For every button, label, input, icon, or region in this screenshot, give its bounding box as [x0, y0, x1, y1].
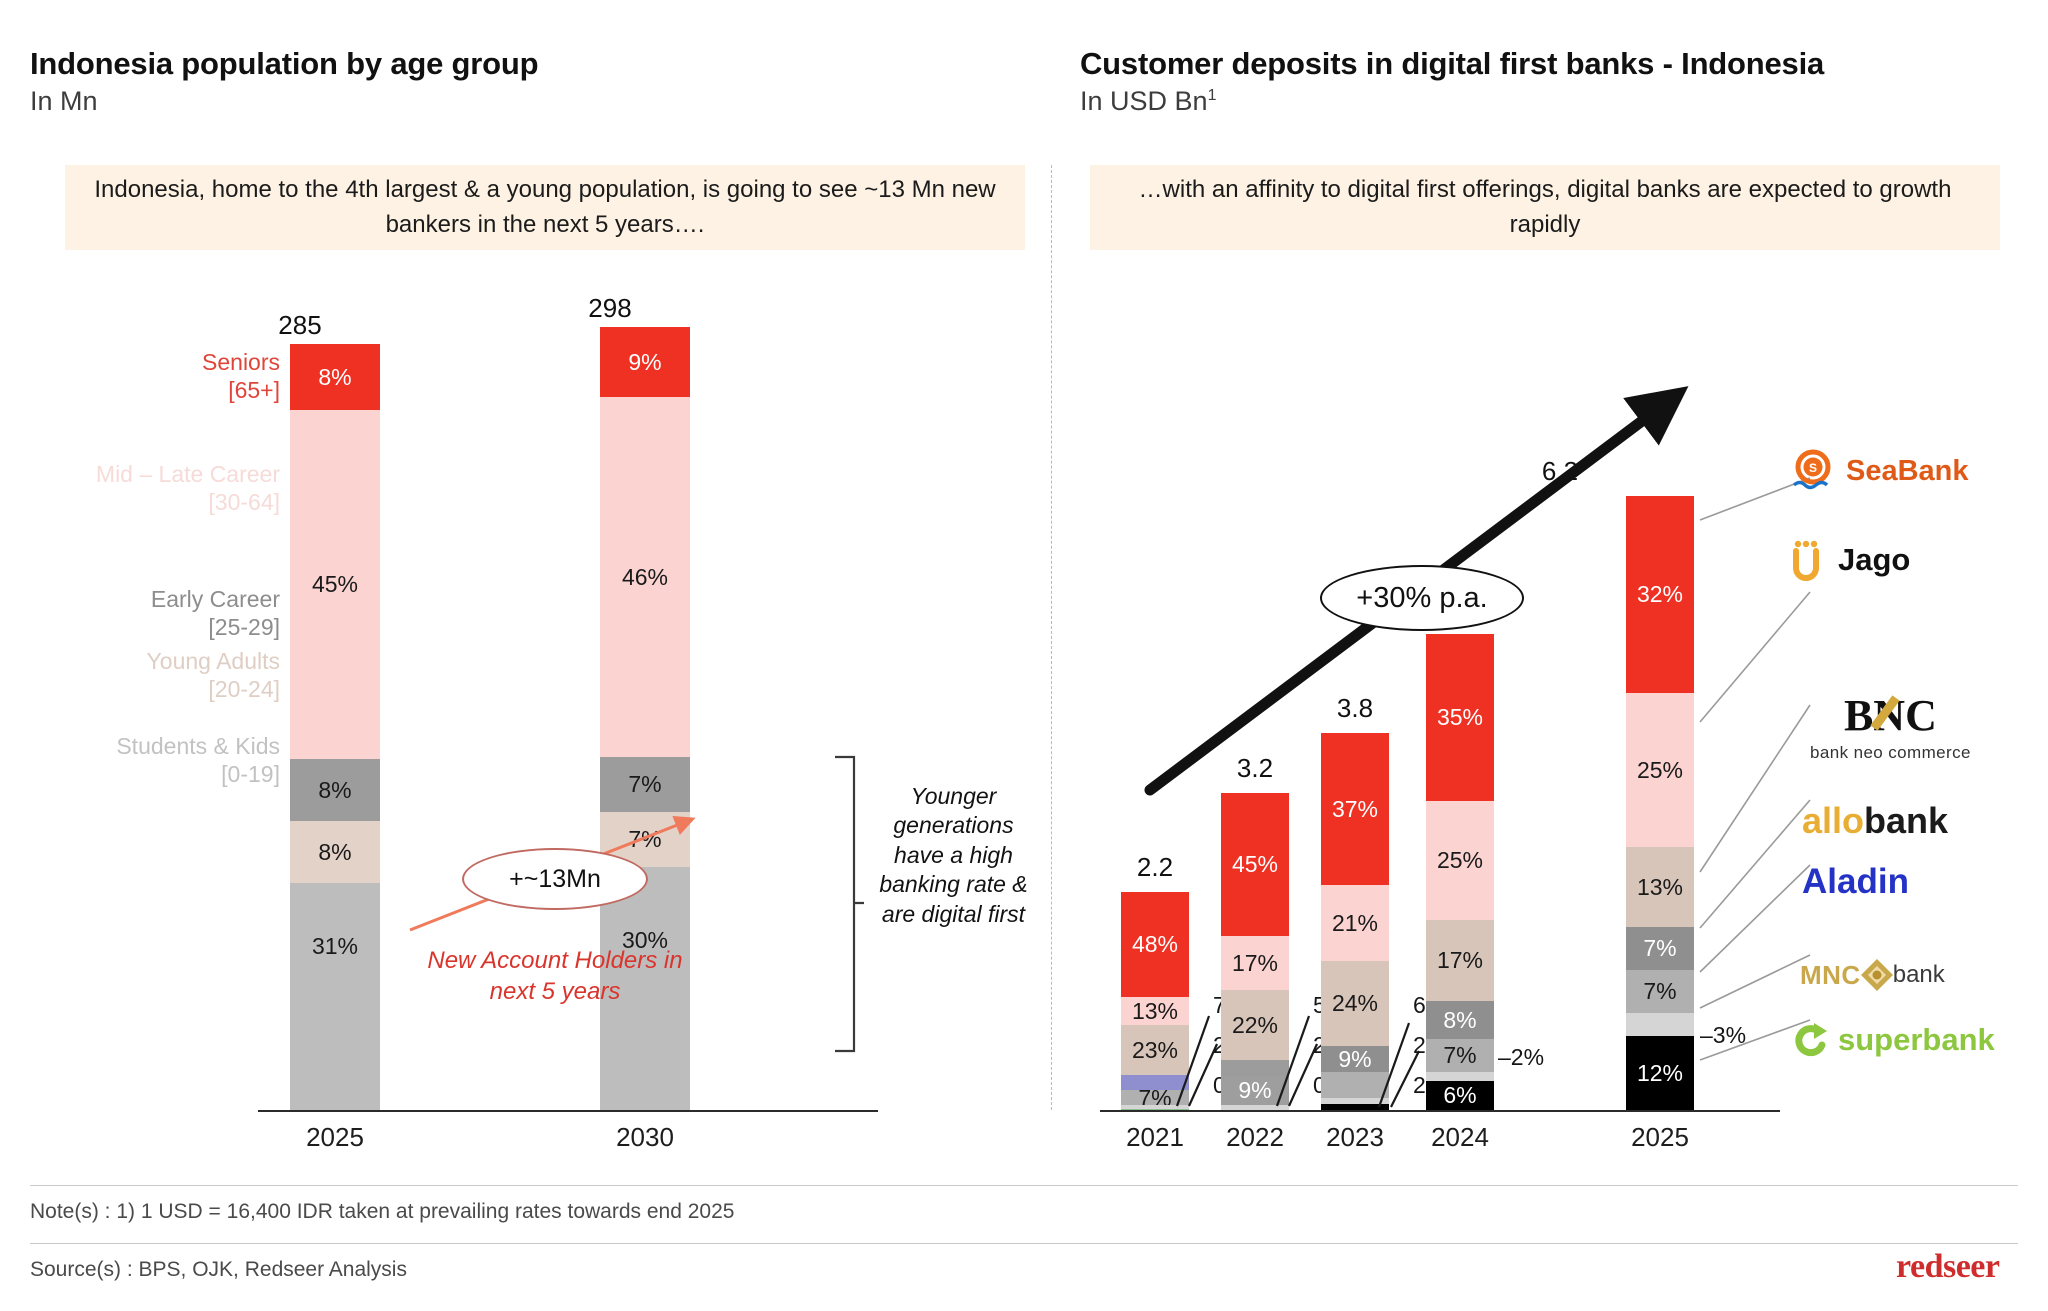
bar-2024-deposits: 35% 25% 17% 8% 7% 6%: [1426, 634, 1494, 1110]
bar-total-2021-deposits: 2.2: [1095, 852, 1215, 883]
new-account-holders-note: New Account Holders in next 5 years: [425, 945, 685, 1007]
xlab-2025-deposits: 2025: [1600, 1122, 1720, 1153]
segment-jago-2025: 25%: [1626, 693, 1694, 847]
segment-allobank-2025: 7%: [1626, 927, 1694, 970]
bar-2025-population: 8% 45% 8% 8% 31%: [290, 344, 380, 1110]
left-panel-title: Indonesia population by age group: [30, 46, 538, 82]
logo-label-bank: bank: [1864, 800, 1948, 842]
category-label-seniors: Seniors [65+]: [20, 348, 280, 404]
segment-mid-late-career-2025: 45%: [290, 410, 380, 759]
footer-sources: Source(s) : BPS, OJK, Redseer Analysis: [30, 1258, 407, 1282]
logo-label-allo: allo: [1802, 800, 1864, 842]
outlabel-mnc-2024: –2%: [1498, 1044, 1544, 1071]
logo-allobank: allobank: [1802, 800, 1948, 842]
right-panel-subtitle: In USD Bn1: [1080, 86, 1216, 117]
category-label-students-kids: Students & Kids [0-19]: [20, 732, 280, 788]
bnc-icon: BNC: [1844, 690, 1937, 741]
right-panel-title: Customer deposits in digital first banks…: [1080, 46, 1824, 82]
cat-range-young-adults: [20-24]: [20, 675, 280, 703]
seabank-icon: S: [1790, 448, 1836, 494]
younger-generations-bracket-icon: [832, 755, 866, 1055]
bar-total-2023-deposits: 3.8: [1295, 693, 1415, 724]
logo-label-superbank: superbank: [1838, 1022, 1995, 1058]
segment-jago-2024: 25%: [1426, 801, 1494, 920]
footer-notes: Note(s) : 1) 1 USD = 16,400 IDR taken at…: [30, 1200, 734, 1224]
segment-bnc-2024: 17%: [1426, 920, 1494, 1001]
segment-seabank-2023: 37%: [1321, 733, 1389, 885]
category-label-mid-late-career: Mid – Late Career [30-64]: [20, 460, 280, 516]
segment-jago-2023: 21%: [1321, 885, 1389, 961]
logo-mnc-bank: MNC bank: [1800, 955, 1945, 995]
left-callout-box: Indonesia, home to the 4th largest & a y…: [65, 165, 1025, 250]
segment-mnc-2025: [1626, 1013, 1694, 1036]
panel-divider: [1051, 165, 1052, 1110]
category-label-young-adults: Young Adults [20-24]: [20, 647, 280, 703]
mnc-diamond-icon: [1857, 955, 1897, 995]
logo-label-aladin: Aladin: [1802, 862, 1909, 902]
logo-jago: Jago: [1790, 538, 1910, 582]
xlab-2024-deposits: 2024: [1400, 1122, 1520, 1153]
slide-root: Indonesia population by age group In Mn …: [0, 0, 2048, 1311]
segment-allobank-2024: 8%: [1426, 1001, 1494, 1039]
xlab-2023-deposits: 2023: [1295, 1122, 1415, 1153]
segment-mnc-2024: [1426, 1072, 1494, 1081]
segment-young-adults-2025: 8%: [290, 821, 380, 883]
segment-superbank-2024: 6%: [1426, 1081, 1494, 1110]
cat-name-students-kids: Students & Kids: [20, 732, 280, 760]
segment-early-career-2025: 8%: [290, 759, 380, 821]
logo-bank-neo-commerce: BNC bank neo commerce: [1810, 690, 1971, 763]
logo-aladin: Aladin: [1802, 862, 1909, 902]
bar-2025-deposits: 32% 25% 13% 7% 7% 12%: [1626, 496, 1694, 1110]
growth-rate-bubble: +30% p.a.: [1320, 565, 1524, 631]
left-panel-subtitle: In Mn: [30, 86, 98, 117]
bar-total-2025-deposits: 6.2: [1500, 456, 1620, 487]
segment-seabank-2022: 45%: [1221, 793, 1289, 936]
jago-icon: [1790, 538, 1824, 582]
segment-early-career-2030: 7%: [600, 757, 690, 812]
category-label-early-career: Early Career [25-29]: [20, 585, 280, 641]
segment-superbank-2025: 12%: [1626, 1036, 1694, 1110]
left-callout-text: Indonesia, home to the 4th largest & a y…: [81, 173, 1009, 241]
logo-superbank: superbank: [1790, 1020, 1995, 1060]
segment-seabank-2024: 35%: [1426, 634, 1494, 801]
cat-name-seniors: Seniors: [20, 348, 280, 376]
bar-total-2030-population: 298: [550, 293, 670, 324]
svg-text:S: S: [1809, 461, 1817, 475]
cat-range-early-career: [25-29]: [20, 613, 280, 641]
segment-aladin-2025: 7%: [1626, 970, 1694, 1013]
bar-total-2025-population: 285: [240, 310, 360, 341]
logo-label-bnc: bank neo commerce: [1810, 743, 1971, 763]
segment-students-kids-2025: 31%: [290, 883, 380, 1110]
footer-rule-bottom: [30, 1243, 2018, 1244]
new-account-bubble: +~13Mn: [462, 848, 648, 910]
segment-bnc-2025: 13%: [1626, 847, 1694, 927]
younger-generations-note: Younger generations have a high banking …: [876, 782, 1031, 929]
right-panel-subtitle-superscript: 1: [1208, 87, 1217, 104]
cat-range-seniors: [65+]: [20, 376, 280, 404]
bar-total-2022-deposits: 3.2: [1195, 753, 1315, 784]
segment-seniors-2025: 8%: [290, 344, 380, 410]
segment-jago-2022: 17%: [1221, 936, 1289, 990]
logo-label-seabank: SeaBank: [1846, 455, 1969, 488]
right-panel-subtitle-text: In USD Bn: [1080, 86, 1208, 116]
logo-label-jago: Jago: [1838, 542, 1910, 578]
right-chart-axis: [1100, 1110, 1780, 1112]
outlabel-mnc-2025: –3%: [1700, 1022, 1746, 1049]
footer-rule-top: [30, 1185, 2018, 1186]
cat-range-students-kids: [0-19]: [20, 760, 280, 788]
cat-name-mid-late-career: Mid – Late Career: [20, 460, 280, 488]
segment-seabank-2021: 48%: [1121, 892, 1189, 997]
right-callout-text: …with an affinity to digital first offer…: [1106, 173, 1984, 241]
segment-mid-late-career-2030: 46%: [600, 397, 690, 757]
logo-label-mnc-bank: bank: [1893, 961, 1945, 989]
superbank-icon: [1790, 1020, 1832, 1060]
right-callout-box: …with an affinity to digital first offer…: [1090, 165, 2000, 250]
cat-range-mid-late-career: [30-64]: [20, 488, 280, 516]
segment-seabank-2025: 32%: [1626, 496, 1694, 693]
bnc-slash-icon: [1870, 694, 1904, 734]
brand-logo-redseer: redseer: [1896, 1248, 1999, 1286]
cat-name-early-career: Early Career: [20, 585, 280, 613]
cat-name-young-adults: Young Adults: [20, 647, 280, 675]
logo-label-mnc: MNC: [1800, 960, 1861, 991]
left-chart-axis: [258, 1110, 878, 1112]
xlab-2025-population: 2025: [275, 1122, 395, 1153]
segment-aladin-2024: 7%: [1426, 1039, 1494, 1072]
logo-seabank: S SeaBank: [1790, 448, 1969, 494]
segment-seniors-2030: 9%: [600, 327, 690, 397]
xlab-2030-population: 2030: [585, 1122, 705, 1153]
